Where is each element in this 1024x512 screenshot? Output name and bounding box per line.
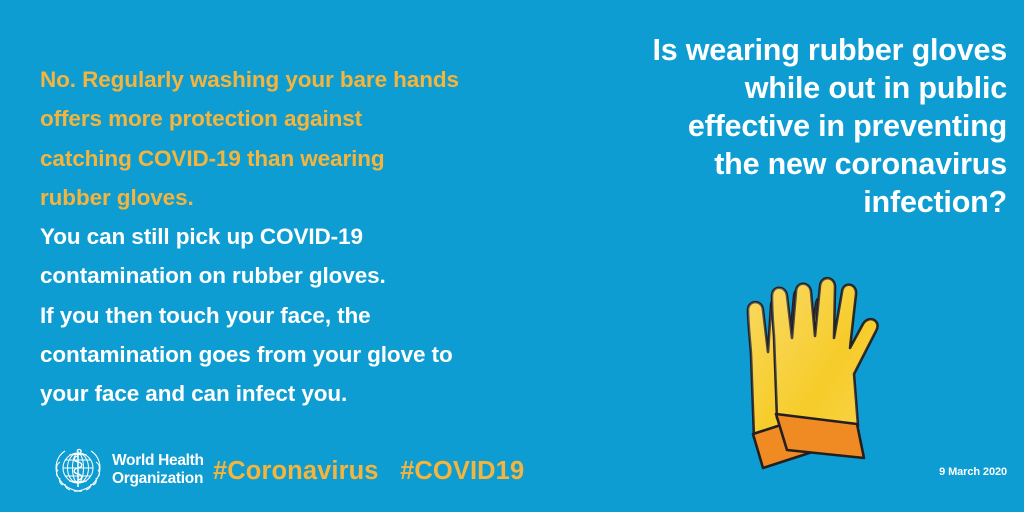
answer-text-block: No. Regularly washing your bare hands of… [40, 60, 550, 414]
answer-line: contamination goes from your glove to [40, 335, 550, 374]
answer-line: catching COVID-19 than wearing [40, 139, 550, 178]
answer-line: contamination on rubber gloves. [40, 256, 550, 295]
answer-line: offers more protection against [40, 99, 550, 138]
answer-line: No. Regularly washing your bare hands [40, 60, 550, 99]
who-covid-infographic: Is wearing rubber gloves while out in pu… [0, 0, 1024, 512]
who-emblem-icon [52, 446, 104, 494]
question-heading: Is wearing rubber gloves while out in pu… [537, 31, 1007, 221]
gloves-icon [724, 262, 924, 482]
who-logo: World Health Organization [52, 446, 204, 494]
answer-line: your face and can infect you. [40, 374, 550, 413]
answer-line: rubber gloves. [40, 178, 550, 217]
hashtags: #Coronavirus #COVID19 [213, 457, 524, 486]
answer-line: You can still pick up COVID-19 [40, 217, 550, 256]
date-stamp: 9 March 2020 [939, 466, 1007, 478]
rubber-gloves-illustration [724, 262, 924, 482]
answer-line: If you then touch your face, the [40, 296, 550, 335]
who-wordmark: World Health Organization [112, 452, 204, 488]
